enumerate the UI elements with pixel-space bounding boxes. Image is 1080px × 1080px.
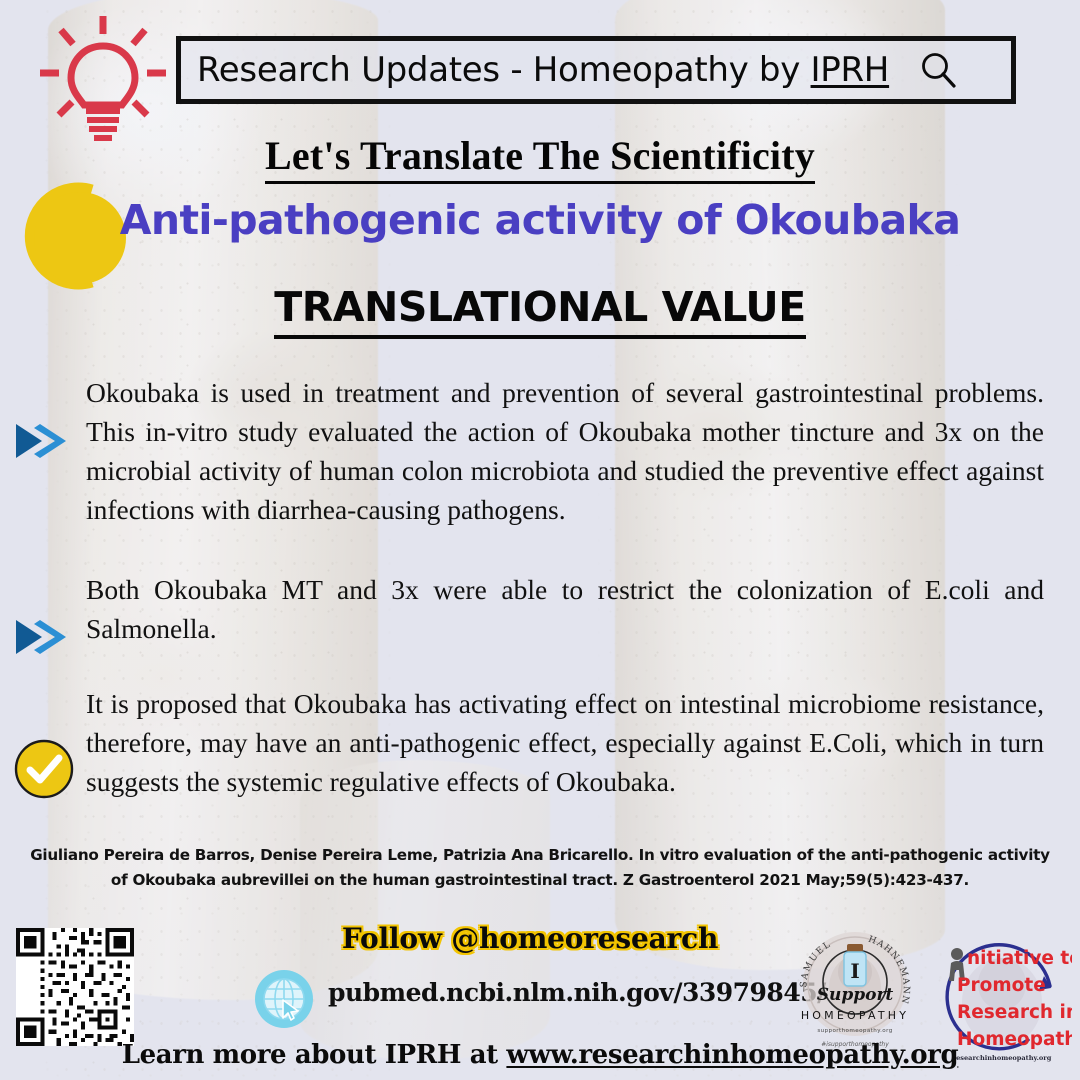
check-circle-icon xyxy=(13,738,75,800)
website-link[interactable]: www.researchinhomeopathy.org xyxy=(506,1040,958,1070)
support-homeopathy-logo: I SAMUEL HAHNEMANN Support HOMEOPATHY su… xyxy=(791,926,919,1050)
learn-more-line[interactable]: Learn more about IPRH at www.researchinh… xyxy=(0,1040,1080,1070)
learn-more-prefix: Learn more about IPRH at xyxy=(122,1040,507,1070)
globe-cursor-icon xyxy=(253,968,315,1030)
poster-canvas: Research Updates - Homeopathy by IPRH Le… xyxy=(0,0,1080,1080)
header-title-bar[interactable]: Research Updates - Homeopathy by IPRH xyxy=(176,36,1016,104)
citation-text: Giuliano Pereira de Barros, Denise Perei… xyxy=(26,843,1054,893)
double-chevron-icon xyxy=(12,617,74,657)
follow-handle: Follow @homeoresearch xyxy=(300,922,760,955)
header-title-main: Research Updates - Homeopathy by xyxy=(197,50,811,90)
body-paragraph: It is proposed that Okoubaka has activat… xyxy=(86,684,1044,801)
lightbulb-icon xyxy=(28,12,178,142)
header-title-brand: IPRH xyxy=(811,50,890,90)
page-kicker: Let's Translate The Scientificity xyxy=(0,132,1080,179)
body-paragraph: Both Okoubaka MT and 3x were able to res… xyxy=(86,570,1044,648)
pubmed-link[interactable]: pubmed.ncbi.nlm.nih.gov/33979845/ xyxy=(328,978,826,1007)
body-paragraph: Okoubaka is used in treatment and preven… xyxy=(86,373,1044,529)
bark-texture-bottom xyxy=(300,760,550,1060)
iprh-line-3: Research in xyxy=(957,1002,1072,1023)
iprh-line-1: nitiative to xyxy=(967,948,1072,969)
page-title: Anti-pathogenic activity of Okoubaka xyxy=(0,196,1080,244)
section-heading: TRANSLATIONAL VALUE xyxy=(0,283,1080,331)
svg-text:Support: Support xyxy=(817,985,894,1005)
section-heading-text: TRANSLATIONAL VALUE xyxy=(274,283,805,339)
page-kicker-text: Let's Translate The Scientificity xyxy=(265,133,815,184)
double-chevron-icon xyxy=(12,421,74,461)
header-title-text: Research Updates - Homeopathy by IPRH xyxy=(197,50,900,90)
support-logo-i: I xyxy=(850,959,859,983)
qr-code[interactable] xyxy=(16,928,134,1046)
svg-text:HOMEOPATHY: HOMEOPATHY xyxy=(801,1009,909,1022)
iprh-line-2: Promote xyxy=(957,975,1046,996)
magnifier-icon[interactable] xyxy=(918,50,958,90)
svg-text:supporthomeopathy.org: supporthomeopathy.org xyxy=(817,1028,892,1034)
